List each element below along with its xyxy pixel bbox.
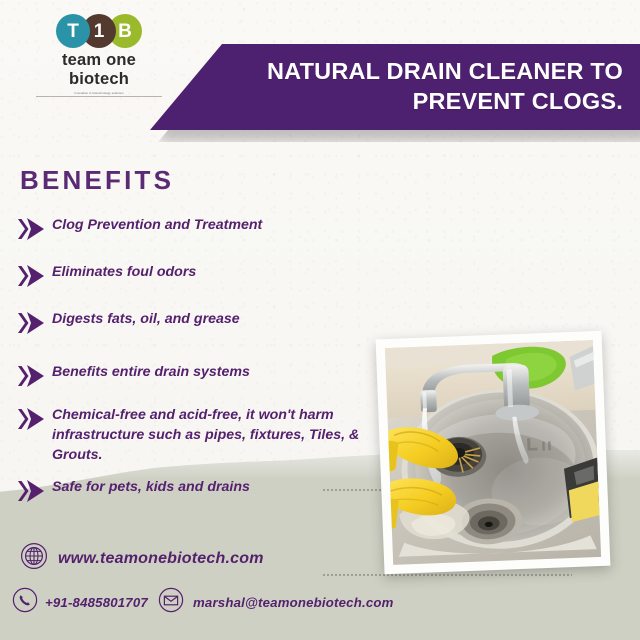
benefit-text: Eliminates foul odors: [50, 262, 196, 282]
logo-letter-t: T: [56, 14, 90, 48]
double-chevron-arrow-icon: [16, 310, 50, 336]
benefit-text: Benefits entire drain systems: [50, 362, 250, 382]
logo-circles: T 1 B: [36, 14, 162, 48]
benefit-text: Safe for pets, kids and drains: [50, 477, 250, 497]
benefit-text: Digests fats, oil, and grease: [50, 309, 240, 329]
brand-logo: T 1 B team one biotech Innovation in bio…: [36, 14, 162, 97]
poster-canvas: T 1 B team one biotech Innovation in bio…: [0, 0, 640, 640]
benefit-item: Eliminates foul odors: [16, 262, 376, 289]
benefit-text: Clog Prevention and Treatment: [50, 215, 262, 235]
footer-website-text: www.teamonebiotech.com: [58, 550, 264, 568]
benefit-item: Clog Prevention and Treatment: [16, 215, 376, 242]
globe-icon: [20, 542, 48, 575]
benefit-item: Chemical-free and acid-free, it won't ha…: [16, 405, 376, 465]
double-chevron-arrow-icon: [16, 406, 50, 432]
footer-phone-row[interactable]: +91-8485801707: [12, 587, 148, 618]
footer-email-row[interactable]: marshal@teamonebiotech.com: [158, 587, 394, 618]
footer-website-row[interactable]: www.teamonebiotech.com: [20, 542, 264, 575]
footer-contact-bar: www.teamonebiotech.com +91-8485801707 ma…: [0, 530, 640, 640]
envelope-icon: [158, 587, 184, 618]
footer-email-text: marshal@teamonebiotech.com: [193, 595, 394, 610]
phone-icon: [12, 587, 38, 618]
double-chevron-arrow-icon: [16, 478, 50, 504]
double-chevron-arrow-icon: [16, 216, 50, 242]
header-banner: NATURAL DRAIN CLEANER TO PREVENT CLOGS.: [150, 44, 640, 130]
banner-title-line-2: PREVENT CLOGS.: [413, 86, 623, 116]
benefit-item: Digests fats, oil, and grease: [16, 309, 376, 336]
benefit-item: Benefits entire drain systems: [16, 362, 376, 389]
benefits-heading: BENEFITS: [20, 165, 174, 196]
logo-tagline: Innovation in biotechnology solutions: [36, 91, 162, 97]
footer-phone-text: +91-8485801707: [45, 595, 148, 610]
benefits-list: Clog Prevention and Treatment Eliminates…: [16, 215, 376, 520]
double-chevron-arrow-icon: [16, 263, 50, 289]
banner-title-line-1: NATURAL DRAIN CLEANER TO: [267, 56, 623, 86]
logo-company-name: team one biotech: [36, 51, 162, 89]
double-chevron-arrow-icon: [16, 363, 50, 389]
benefit-text: Chemical-free and acid-free, it won't ha…: [50, 405, 376, 465]
banner-body: NATURAL DRAIN CLEANER TO PREVENT CLOGS.: [150, 44, 640, 130]
